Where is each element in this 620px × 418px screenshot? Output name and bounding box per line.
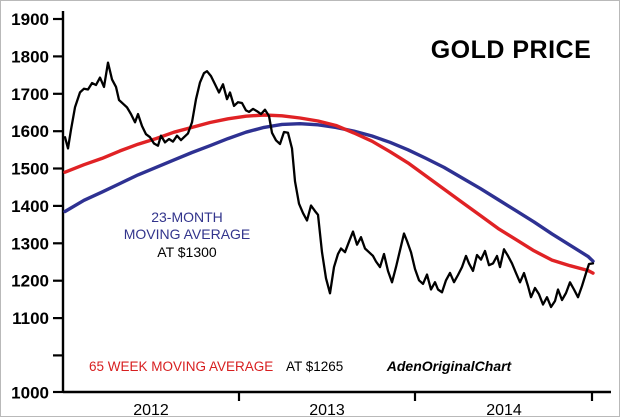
ma65-label-red: 65 WEEK MOVING AVERAGE <box>89 359 273 374</box>
x-axis-ticks <box>239 392 592 401</box>
series-line-price <box>65 63 593 307</box>
x-tick-label-2014: 2014 <box>486 402 522 418</box>
y-tick-label-1800: 1800 <box>11 47 49 66</box>
x-tick-label-2012: 2012 <box>133 402 169 418</box>
y-tick-label-1600: 1600 <box>11 122 49 141</box>
y-tick-label-1000: 1000 <box>11 383 49 402</box>
ma23-label-line2: MOVING AVERAGE <box>124 226 251 242</box>
x-tick-label-2013: 2013 <box>309 402 345 418</box>
ma23-label-line3: AT $1300 <box>157 244 217 260</box>
series-line-ma65 <box>65 115 593 273</box>
y-tick-label-1700: 1700 <box>11 85 49 104</box>
ma23-label-line1: 23-MONTH <box>151 209 223 225</box>
ma65-label-black: AT $1265 <box>286 359 343 374</box>
annotation-ma65: 65 WEEK MOVING AVERAGE AT $1265 <box>89 359 343 374</box>
annotation-ma23: 23-MONTH MOVING AVERAGE AT $1300 <box>124 209 251 260</box>
chart-canvas: 1900 1800 1700 1600 1500 1400 1300 1200 … <box>1 1 620 418</box>
y-tick-label-1300: 1300 <box>11 234 49 253</box>
y-tick-label-1100: 1100 <box>12 309 49 328</box>
y-tick-label-1900: 1900 <box>11 10 49 29</box>
chart-title: GOLD PRICE <box>431 36 592 64</box>
y-tick-label-1400: 1400 <box>11 197 49 216</box>
chart-credit: AdenOriginalChart <box>386 358 513 374</box>
gold-price-chart: 1900 1800 1700 1600 1500 1400 1300 1200 … <box>0 0 620 417</box>
y-tick-label-1200: 1200 <box>11 272 49 291</box>
y-axis-ticks <box>53 19 63 392</box>
y-tick-label-1500: 1500 <box>11 160 49 179</box>
